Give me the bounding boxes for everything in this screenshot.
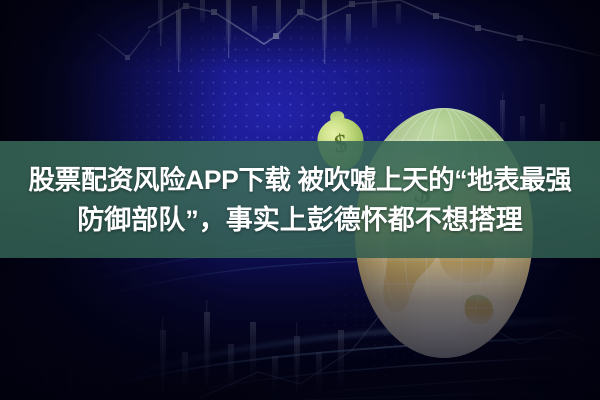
headline-line-2: 防御部队”，事实上彭德怀都不想搭理 [77,201,523,239]
thumbnail-image: $ [0,0,600,400]
headline-line-1: 股票配资风险APP下载 被吹嘘上天的“地表最强 [29,161,572,199]
page-title: 股票配资风险APP下载 被吹嘘上天的“地表最强 防御部队”，事实上彭德怀都不想搭… [0,141,600,258]
vignette-top [0,0,600,70]
